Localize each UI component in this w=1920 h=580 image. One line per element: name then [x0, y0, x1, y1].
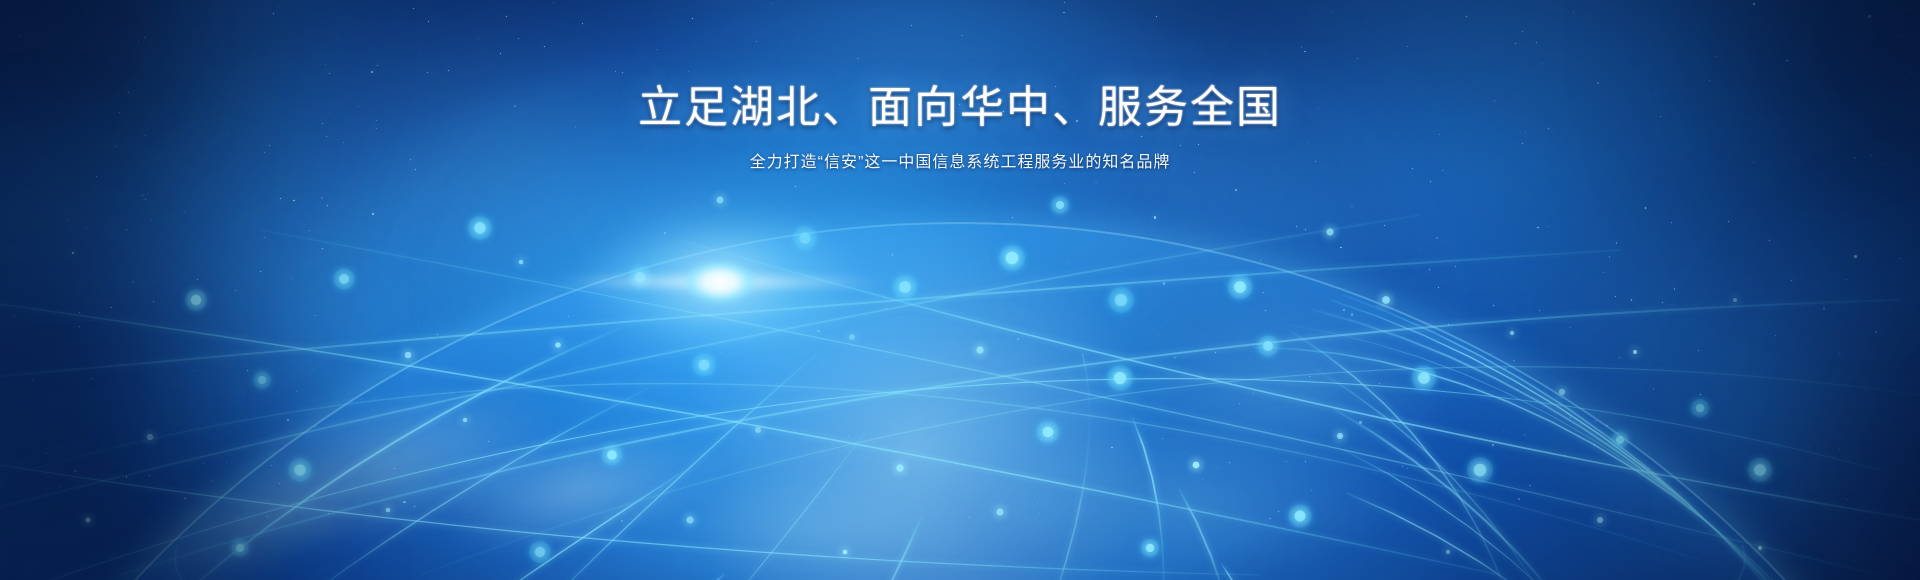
banner-subline: 全力打造“信安”这一中国信息系统工程服务业的知名品牌 [0, 155, 1920, 171]
hero-banner: 立足湖北、面向华中、服务全国 全力打造“信安”这一中国信息系统工程服务业的知名品… [0, 0, 1920, 580]
banner-headline: 立足湖北、面向华中、服务全国 [0, 86, 1920, 130]
banner-copy: 立足湖北、面向华中、服务全国 全力打造“信安”这一中国信息系统工程服务业的知名品… [0, 86, 1920, 171]
